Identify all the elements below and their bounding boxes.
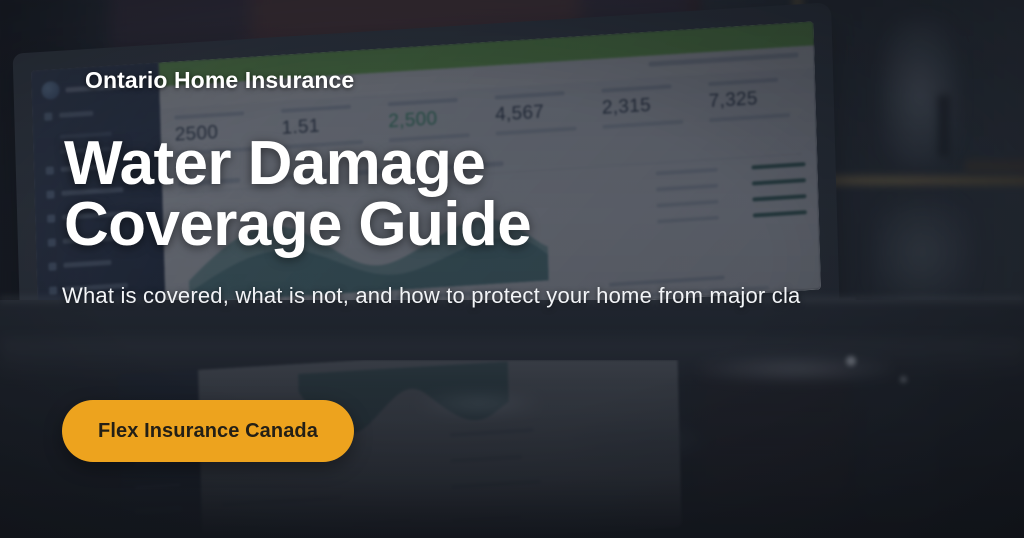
hero-banner: 2500 1.51 2,500 xyxy=(0,0,1024,538)
flex-insurance-canada-button[interactable]: Flex Insurance Canada xyxy=(62,400,354,462)
hero-content: Ontario Home Insurance Water Damage Cove… xyxy=(0,0,1024,538)
hero-subtitle: What is covered, what is not, and how to… xyxy=(62,283,800,309)
hero-eyebrow: Ontario Home Insurance xyxy=(85,67,354,94)
page-title: Water Damage Coverage Guide xyxy=(64,134,1024,256)
